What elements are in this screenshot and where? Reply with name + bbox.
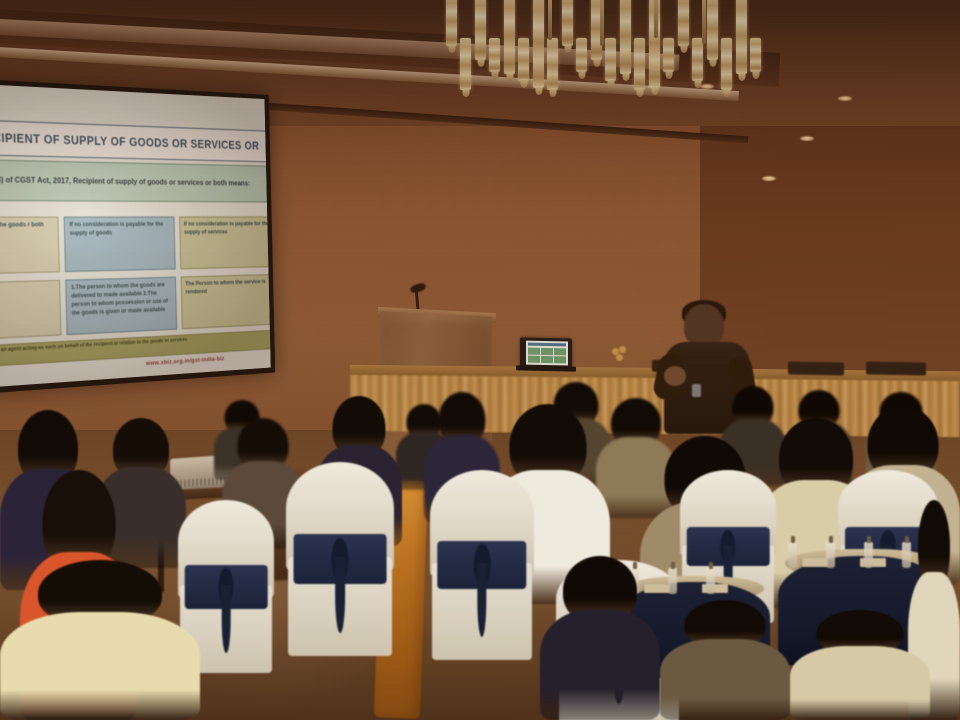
chandelier-pendant xyxy=(678,0,689,46)
screen-surface: N-RECIPIENT OF SUPPLY OF GOODS OR SERVIC… xyxy=(0,83,271,388)
slide-box-1-2: If no consideration is payable for the s… xyxy=(64,217,175,273)
chandelier-pendant xyxy=(446,0,457,46)
chandelier-pendant xyxy=(518,38,529,81)
chandelier-pendant xyxy=(562,0,573,46)
foreground-attendee-yellow xyxy=(0,560,200,720)
flower-arrangement xyxy=(612,346,628,370)
chandelier-pendant xyxy=(460,38,471,90)
chandelier-stem xyxy=(702,0,706,44)
slide-box-2-1: liable to pay ry xyxy=(0,280,62,342)
slide-title: N-RECIPIENT OF SUPPLY OF GOODS OR SERVIC… xyxy=(0,118,271,162)
attendee-torso xyxy=(790,646,930,720)
chandelier-pendant xyxy=(663,38,674,72)
chandelier-pendant xyxy=(533,0,544,88)
chandelier-pendant xyxy=(504,0,515,74)
downlight-icon xyxy=(762,176,776,181)
speaker-badge xyxy=(692,384,701,397)
laptop-screen xyxy=(526,341,568,366)
projection-screen: N-RECIPIENT OF SUPPLY OF GOODS OR SERVIC… xyxy=(0,78,360,398)
presenter-laptop[interactable] xyxy=(516,337,576,372)
water-bottle xyxy=(788,542,797,568)
chandelier-stem xyxy=(548,0,552,40)
chandelier-pendant xyxy=(576,38,587,72)
laptop-screen-row xyxy=(528,347,566,355)
chandelier-pendant xyxy=(736,0,747,74)
slide-row-1: ion is payable, r of the goods r both If… xyxy=(0,216,271,275)
chandelier-pendant xyxy=(489,38,500,72)
seminar-hall-photo: N-RECIPIENT OF SUPPLY OF GOODS OR SERVIC… xyxy=(0,0,960,720)
laptop-lid xyxy=(520,337,572,368)
screen-frame: N-RECIPIENT OF SUPPLY OF GOODS OR SERVIC… xyxy=(0,78,275,395)
banquet-chair xyxy=(430,470,534,656)
laptop-base xyxy=(516,365,576,371)
slide-box-1-1: ion is payable, r of the goods r both xyxy=(0,217,60,276)
downlight-icon xyxy=(838,96,852,101)
slide-box-1-3: If no consideration is payable for the s… xyxy=(179,216,271,269)
attendee-torso xyxy=(540,610,660,720)
chair-sash-tail xyxy=(222,585,231,653)
chandelier-pendant xyxy=(692,38,703,81)
foreground-attendee-right-bottom xyxy=(790,610,930,720)
head-table-item xyxy=(788,362,844,376)
gst-slide: N-RECIPIENT OF SUPPLY OF GOODS OR SERVIC… xyxy=(0,83,271,388)
chandelier xyxy=(440,0,770,112)
foreground-attendee-dark-right xyxy=(540,556,660,720)
head-table-item xyxy=(866,361,926,375)
notepad xyxy=(802,558,828,567)
slide-box-2-2: 1.The person to whom the goods are deliv… xyxy=(66,277,177,335)
chandelier-pendant xyxy=(620,0,631,74)
chandelier-stem xyxy=(654,0,658,38)
laptop-screen-header xyxy=(528,343,566,347)
slide-box-2-3: The Person to whom the service is render… xyxy=(180,274,270,329)
water-bottle xyxy=(706,568,715,594)
chandelier-pendant xyxy=(547,38,558,90)
chandelier-pendant xyxy=(750,38,761,72)
chandelier-pendant xyxy=(475,0,486,60)
laptop-screen-row xyxy=(528,356,566,364)
chandelier-pendant xyxy=(605,38,616,81)
water-bottle xyxy=(864,542,873,568)
banquet-chair xyxy=(286,462,394,652)
chandelier-pendant xyxy=(707,0,718,60)
chandelier-stem xyxy=(600,0,604,46)
foreground-attendee-center-bottom xyxy=(660,600,790,720)
chair-sash-tail xyxy=(335,557,345,633)
slide-subtitle: on 2(93) of CGST Act, 2017, Recipient of… xyxy=(0,158,271,202)
water-bottle xyxy=(668,568,677,594)
water-bottle xyxy=(826,542,835,568)
speaker-hand xyxy=(664,366,686,386)
chandelier-pendant xyxy=(721,38,732,90)
attendee-torso xyxy=(0,612,200,720)
attendee-torso xyxy=(660,639,790,720)
chandelier-pendant xyxy=(634,38,645,90)
downlight-icon xyxy=(800,136,814,141)
